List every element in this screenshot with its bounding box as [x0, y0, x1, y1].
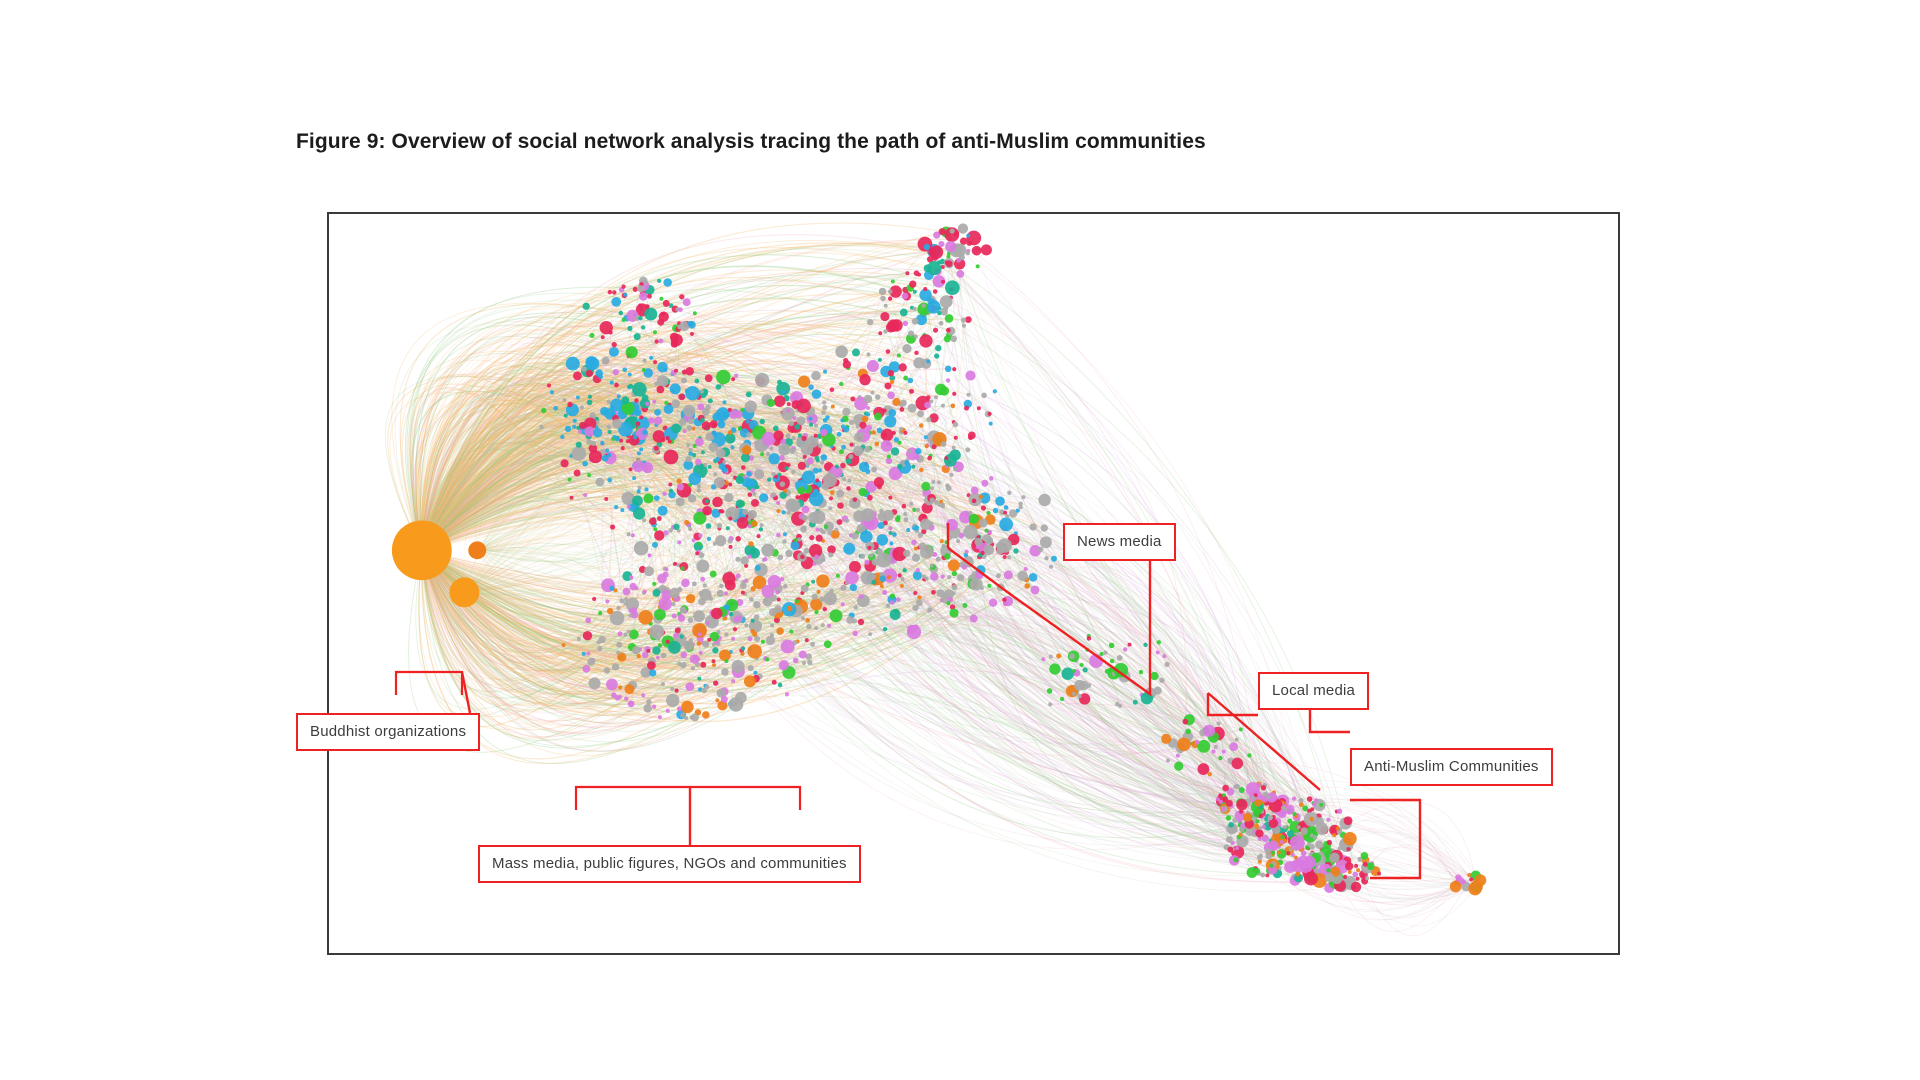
callout-local-media: Local media — [1258, 672, 1369, 710]
callout-news-media: News media — [1063, 523, 1176, 561]
network-graph — [329, 214, 1618, 953]
figure-frame — [327, 212, 1620, 955]
callout-buddhist-organizations: Buddhist organizations — [296, 713, 480, 751]
callout-mass-media: Mass media, public figures, NGOs and com… — [478, 845, 861, 883]
callout-anti-muslim-communities: Anti-Muslim Communities — [1350, 748, 1553, 786]
figure-caption: Figure 9: Overview of social network ana… — [296, 130, 1206, 154]
